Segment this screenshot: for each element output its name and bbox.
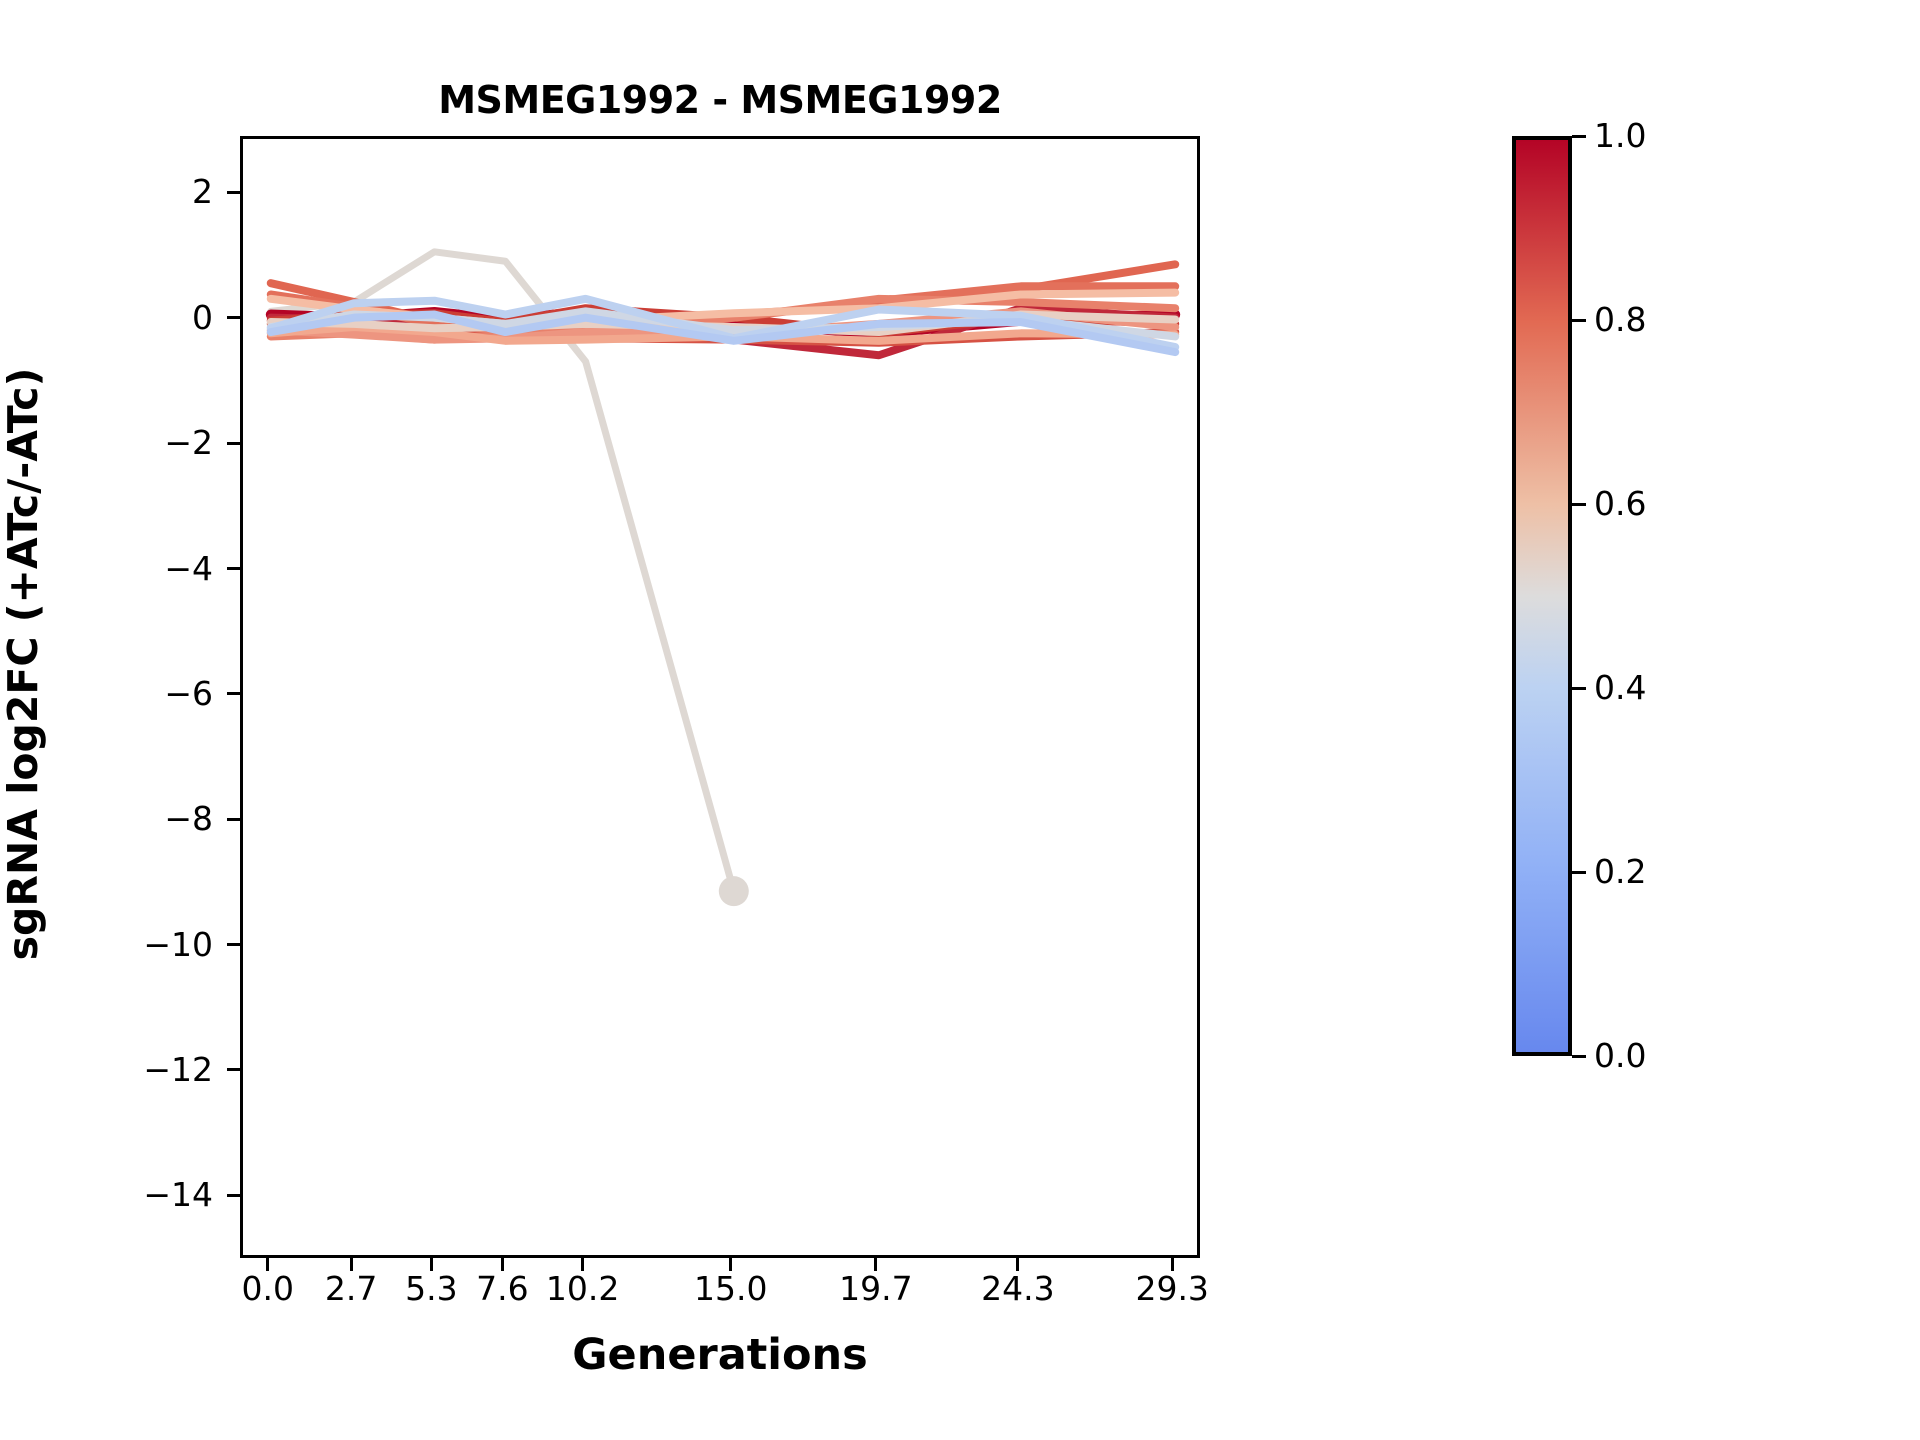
x-axis-label: Generations — [240, 1330, 1200, 1380]
chart-title: MSMEG1992 - MSMEG1992 — [240, 78, 1200, 122]
colorbar-tick-mark — [1572, 135, 1586, 138]
colorbar-tick-mark — [1572, 319, 1586, 322]
plot-area — [240, 136, 1200, 1258]
y-tick-mark — [227, 943, 240, 946]
colorbar-tick-label: 0.0 — [1594, 1039, 1646, 1072]
colorbar-tick-mark — [1572, 1055, 1586, 1058]
y-tick-label: −12 — [53, 1053, 213, 1086]
colorbar-tick-label: 0.6 — [1594, 487, 1646, 520]
y-axis-label: sgRNA log2FC (+ATc/-ATc) — [0, 103, 47, 1225]
colorbar-tick-label: 1.0 — [1594, 119, 1646, 152]
y-tick-mark — [227, 442, 240, 445]
colorbar — [1512, 136, 1572, 1056]
y-tick-mark — [227, 1068, 240, 1071]
y-tick-label: 2 — [53, 175, 213, 208]
colorbar-tick-mark — [1572, 871, 1586, 874]
y-tick-mark — [227, 567, 240, 570]
y-tick-label: −6 — [53, 677, 213, 710]
colorbar-tick-mark — [1572, 503, 1586, 506]
y-tick-mark — [227, 818, 240, 821]
colorbar-gradient — [1516, 140, 1568, 1052]
colorbar-tick-label: 0.2 — [1594, 855, 1646, 888]
y-tick-label: −2 — [53, 426, 213, 459]
plot-svg — [243, 139, 1203, 1261]
y-tick-label: 0 — [53, 301, 213, 334]
y-tick-mark — [227, 191, 240, 194]
x-tick-label: 10.2 — [498, 1272, 668, 1305]
y-tick-mark — [227, 692, 240, 695]
series-endpoint-marker — [719, 876, 749, 906]
colorbar-tick-label: 0.8 — [1594, 303, 1646, 336]
x-tick-label: 24.3 — [933, 1272, 1103, 1305]
y-tick-label: −4 — [53, 552, 213, 585]
y-tick-mark — [227, 1194, 240, 1197]
y-tick-label: −8 — [53, 802, 213, 835]
colorbar-tick-mark — [1572, 687, 1586, 690]
series-line — [271, 252, 734, 891]
y-tick-label: −10 — [53, 928, 213, 961]
colorbar-tick-label: 0.4 — [1594, 671, 1646, 704]
chart-root: MSMEG1992 - MSMEG1992 sgRNA log2FC (+ATc… — [0, 0, 1920, 1440]
y-tick-label: −14 — [53, 1178, 213, 1211]
y-tick-mark — [227, 316, 240, 319]
x-tick-label: 29.3 — [1087, 1272, 1257, 1305]
